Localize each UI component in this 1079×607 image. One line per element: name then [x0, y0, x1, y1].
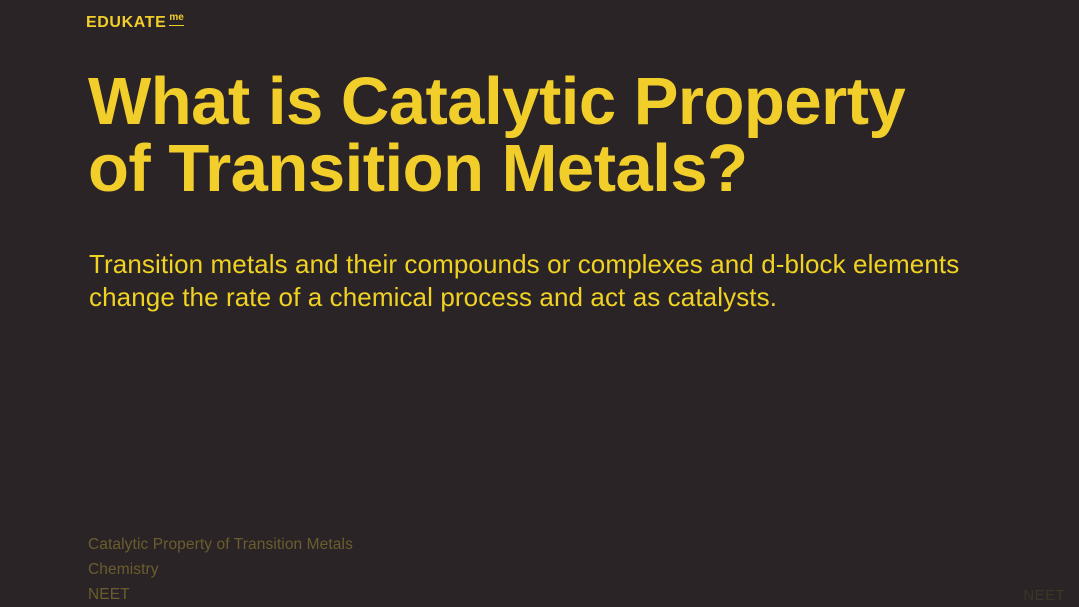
brand-logo-word: EDUKATE [86, 15, 166, 31]
slide-body-text: Transition metals and their compounds or… [89, 248, 989, 314]
slide-footer: Catalytic Property of Transition Metals … [88, 532, 353, 607]
brand-logo[interactable]: EDUKATE me [86, 15, 184, 31]
footer-topic: Catalytic Property of Transition Metals [88, 532, 353, 557]
footer-exam: NEET [88, 582, 353, 607]
slide-title: What is Catalytic Property of Transition… [88, 68, 978, 202]
footer-subject: Chemistry [88, 557, 353, 582]
corner-watermark: NEET [1023, 587, 1065, 604]
brand-logo-superscript: me [169, 13, 183, 25]
slide-canvas: EDUKATE me What is Catalytic Property of… [0, 0, 1079, 607]
